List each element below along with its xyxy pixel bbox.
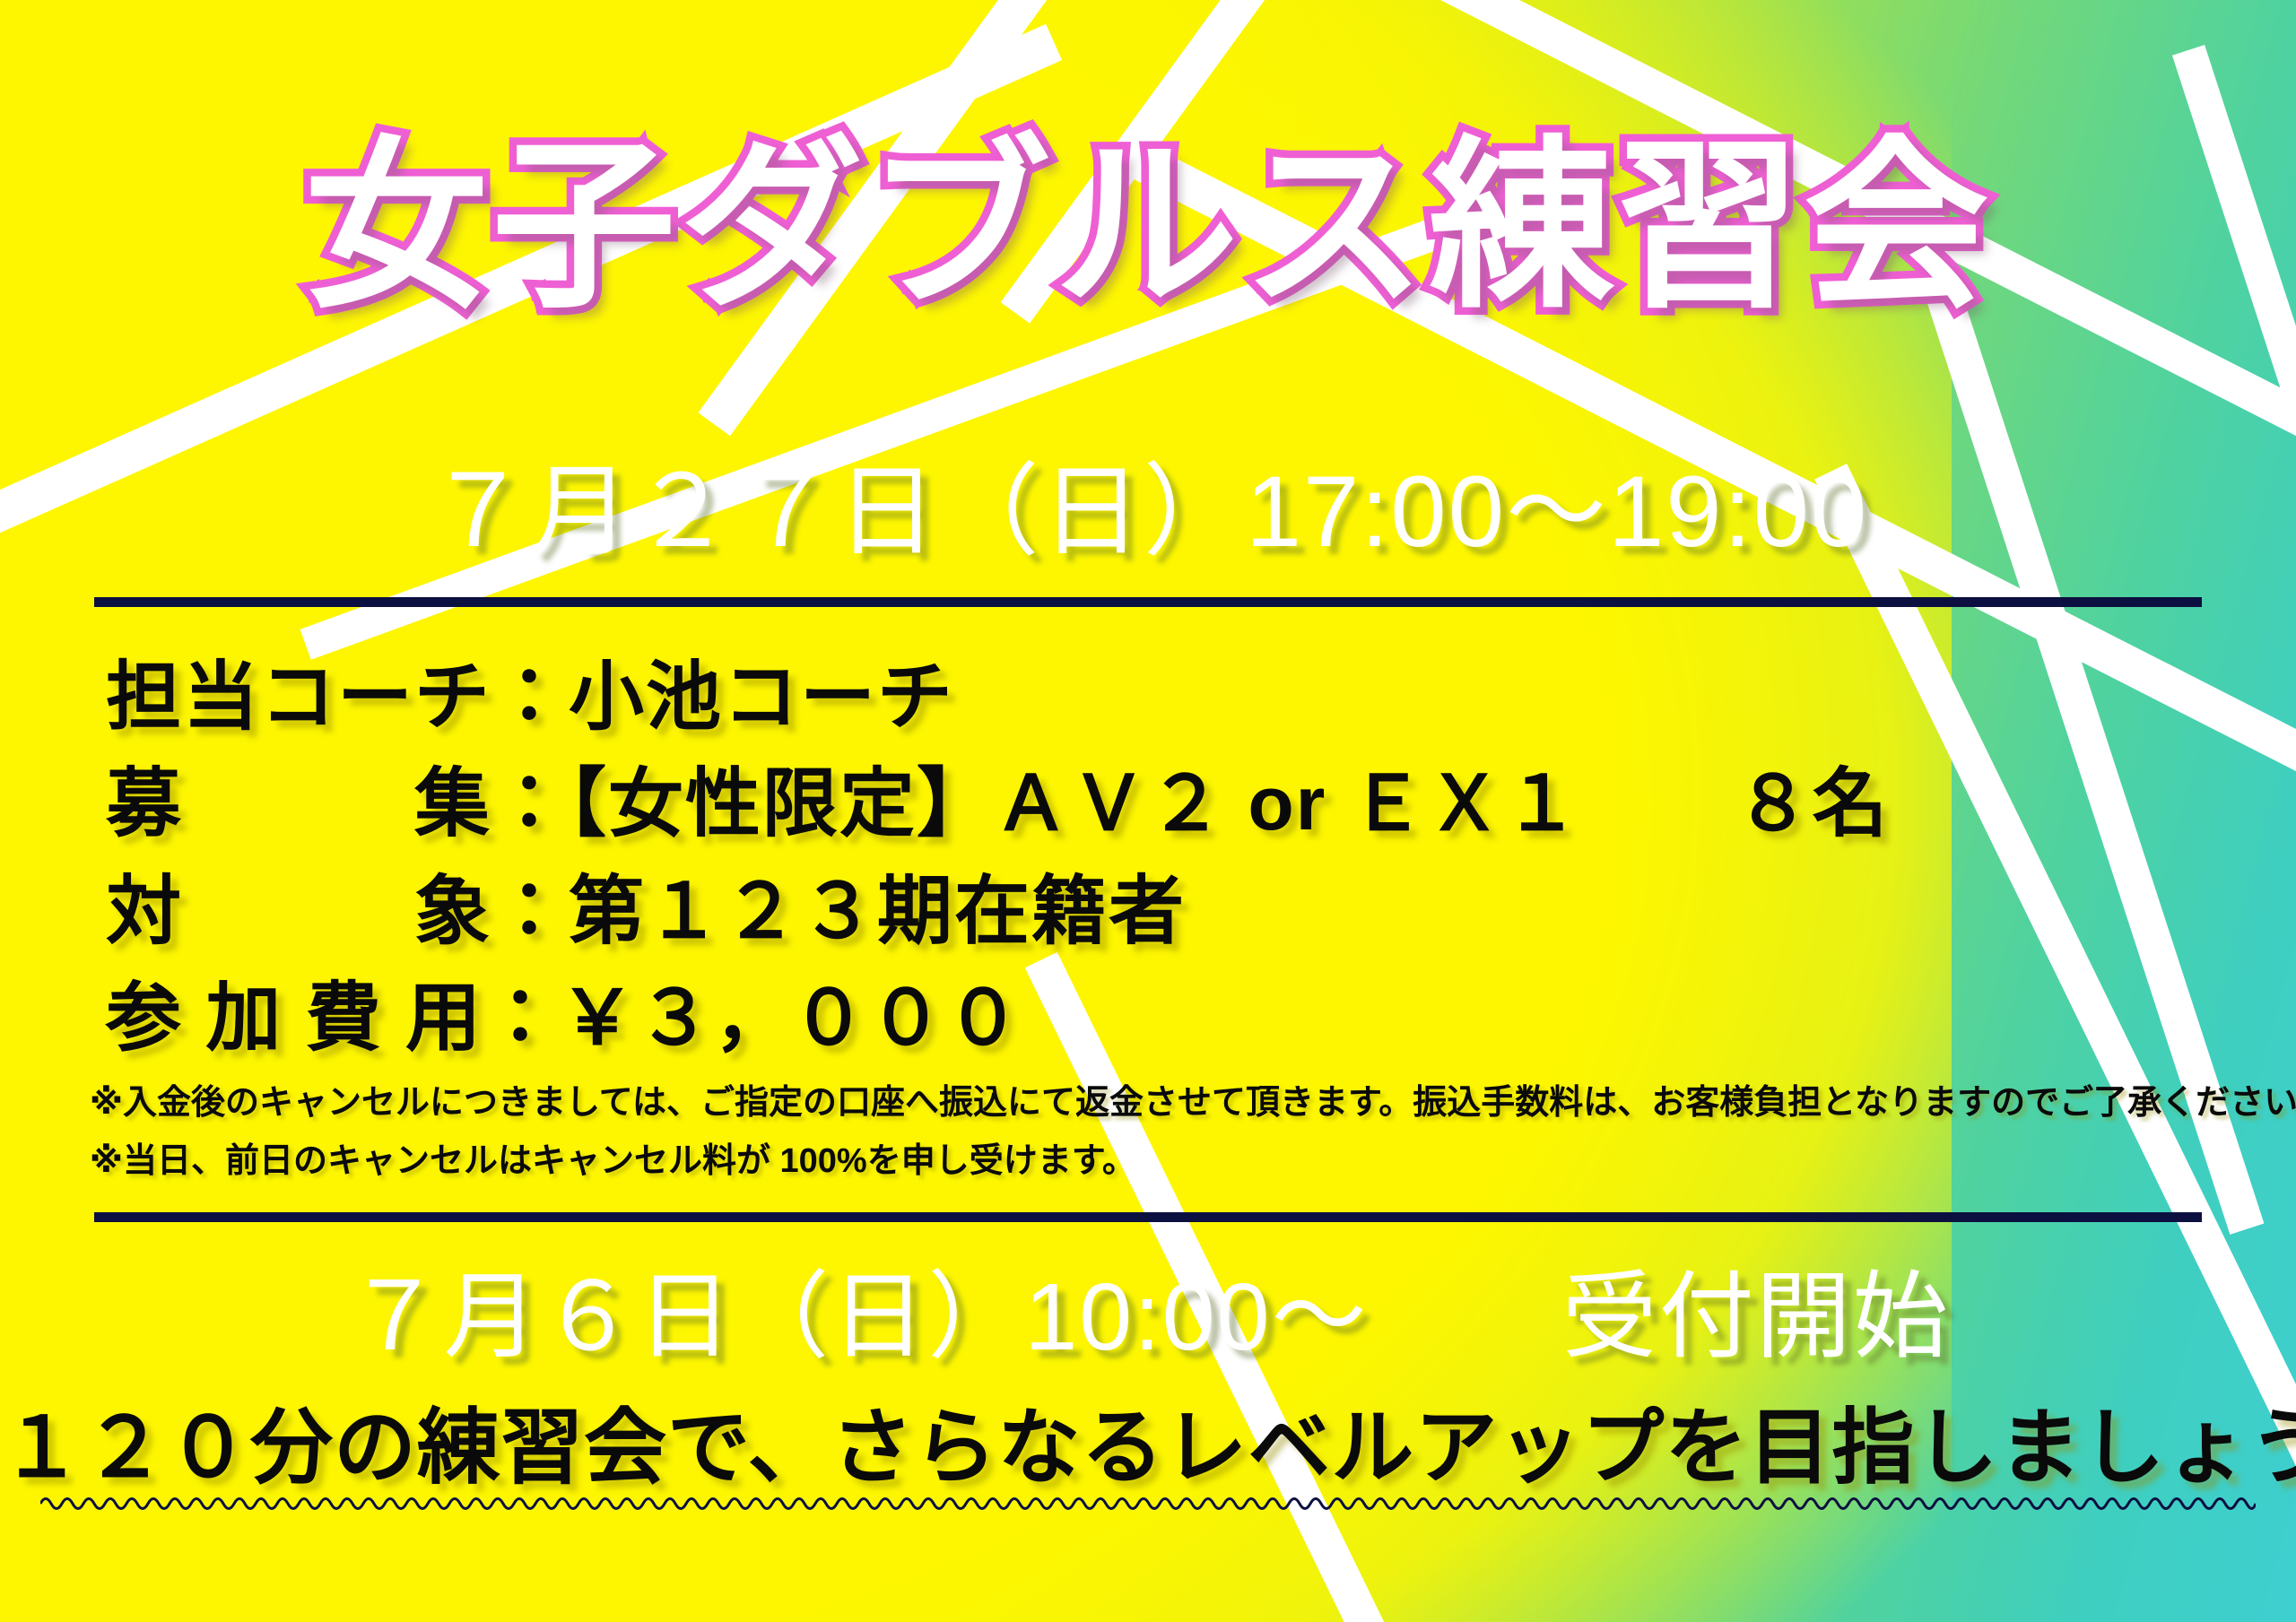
event-details-list: 担当コーチ：小池コーチ 募 集：【女性限定】ＡＶ２ or ＥＸ１ ８名 対 象：… bbox=[106, 644, 2196, 1071]
page-title-text: 女子ダブルス練習会 bbox=[305, 134, 1992, 318]
divider-top bbox=[94, 597, 2202, 607]
detail-row-recruitment: 募 集：【女性限定】ＡＶ２ or ＥＸ１ ８名 bbox=[106, 750, 2196, 857]
event-flyer-poster: 女子ダブルス練習会 ７月２７日（日）17:00～19:00 担当コーチ：小池コー… bbox=[0, 0, 2296, 1622]
cancellation-notes: ※入金後のキャンセルにつきましては、ご指定の口座へ振込にて返金させて頂きます。振… bbox=[90, 1074, 2206, 1192]
detail-row-fee: 参 加 費 用：￥３，０００ bbox=[106, 965, 2196, 1071]
wavy-underline-icon bbox=[40, 1492, 2256, 1515]
note-cancellation-fee: ※当日、前日のキャンセルはキャンセル料が 100%を申し受けます。 bbox=[90, 1132, 2206, 1191]
detail-row-eligibility: 対 象：第１２３期在籍者 bbox=[106, 858, 2196, 965]
divider-bottom bbox=[94, 1212, 2202, 1222]
note-refund-policy: ※入金後のキャンセルにつきましては、ご指定の口座へ振込にて返金させて頂きます。振… bbox=[90, 1074, 2206, 1132]
page-title: 女子ダブルス練習会 bbox=[0, 134, 2296, 318]
detail-row-coach: 担当コーチ：小池コーチ bbox=[106, 644, 2196, 750]
closing-tagline: １２０分の練習会で、さらなるレベルアップを目指しましょう！ bbox=[0, 1381, 2296, 1500]
reception-opening-line: ７月６日（日）10:00～ 受付開始 bbox=[0, 1239, 2296, 1377]
event-datetime-headline: ７月２７日（日）17:00～19:00 bbox=[0, 430, 2296, 576]
